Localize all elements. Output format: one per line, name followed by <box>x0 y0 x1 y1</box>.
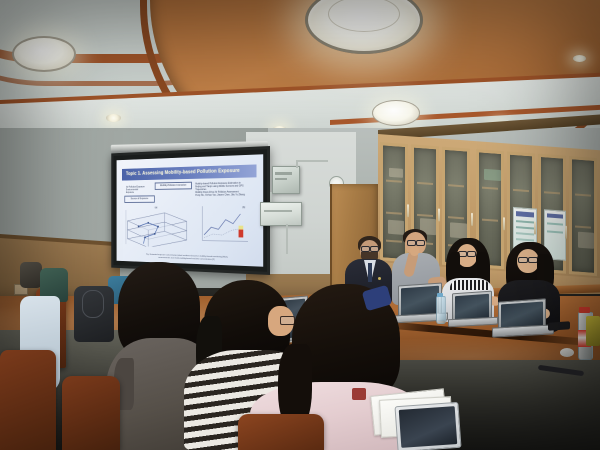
wooden-chair[interactable] <box>62 376 120 450</box>
slide-box-right: Mobility-Pollution Interaction <box>155 182 192 190</box>
distribution-board <box>260 202 302 226</box>
ceiling-lamp-right-icon <box>372 100 420 126</box>
necktie <box>368 263 372 282</box>
slide-caption: Fig. Estimated exposure concentration (i… <box>126 253 252 263</box>
recessed-downlight-icon <box>106 114 121 122</box>
eyeglasses-icon <box>518 257 528 263</box>
thermos-flask[interactable] <box>586 316 600 346</box>
phone-device[interactable] <box>548 321 570 331</box>
cabinet-handle-icon[interactable] <box>407 204 409 217</box>
distribution-board-label <box>264 210 292 212</box>
meter-display <box>275 172 292 175</box>
chair-back-rest <box>20 262 42 288</box>
cabinet-handle-icon[interactable] <box>503 217 505 230</box>
tablet-screen <box>399 406 458 448</box>
cabinet-handle-icon[interactable] <box>471 213 473 226</box>
cabinet-door[interactable] <box>380 142 408 262</box>
laptop-screen <box>455 294 489 320</box>
cabinet-handle-icon[interactable] <box>534 221 536 234</box>
slide-title: Topic 1. Assessing Mobility-based Pollut… <box>122 164 256 180</box>
backpack-strap <box>82 290 104 318</box>
conduit-pipe <box>286 224 288 254</box>
ceiling-lamp-left-icon <box>12 36 76 72</box>
laptop-screen <box>401 286 439 317</box>
conduit-pipe <box>296 160 328 162</box>
cabinet-handle-icon[interactable] <box>565 226 567 239</box>
slide-surface: Topic 1. Assessing Mobility-based Pollut… <box>117 154 264 266</box>
tablet-device[interactable] <box>394 402 461 450</box>
recessed-downlight-icon <box>573 55 586 62</box>
water-bottle[interactable] <box>436 296 446 324</box>
eyeglasses-icon <box>361 246 370 252</box>
lapel-pin-icon <box>378 277 381 280</box>
cabinet-door[interactable] <box>569 156 597 276</box>
eyeglasses-icon <box>416 240 425 246</box>
wooden-chair[interactable] <box>238 414 324 450</box>
slide-panel-b-label: (b) <box>242 206 245 209</box>
paper-cup[interactable] <box>560 348 574 357</box>
slide-note-right: Mobility-based Pollution Exposure Estima… <box>195 181 255 197</box>
slide-panel-a-label: (a) <box>155 206 158 209</box>
bottle-cap-icon <box>579 307 590 313</box>
wooden-chair[interactable] <box>0 350 56 450</box>
slide-diagram-plot <box>197 202 254 249</box>
pen-case[interactable] <box>352 388 366 400</box>
bottle-cap-icon <box>437 293 443 297</box>
eyeglasses-icon <box>370 246 379 252</box>
slide-diagram-layers <box>123 202 192 247</box>
projection-screen: Topic 1. Assessing Mobility-based Pollut… <box>111 146 270 275</box>
hand <box>410 246 419 256</box>
eyeglasses-icon <box>467 251 476 257</box>
conference-room-photo: Topic 1. Assessing Mobility-based Pollut… <box>0 0 600 450</box>
striped-collar <box>450 280 490 290</box>
cabinet-handle-icon[interactable] <box>438 208 440 221</box>
meter-label <box>275 178 287 180</box>
electrical-meter-box <box>272 166 300 194</box>
